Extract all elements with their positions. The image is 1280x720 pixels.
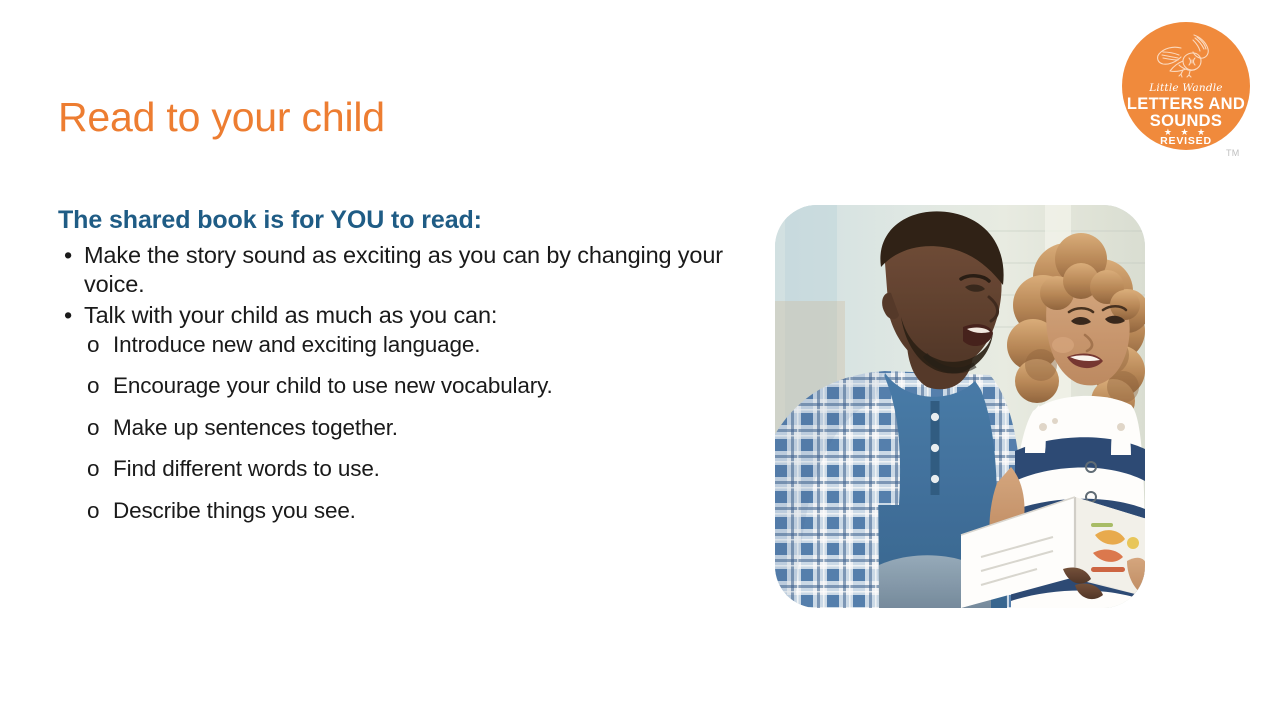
sub-bullet-list: o Introduce new and exciting language. o…	[58, 334, 748, 523]
bullet-dot-icon: •	[64, 301, 72, 330]
circle-marker-icon: o	[87, 417, 99, 440]
list-item: o Find different words to use.	[80, 458, 748, 481]
logo-revised-label: REVISED	[1122, 136, 1250, 147]
list-item-text: Make the story sound as exciting as you …	[84, 242, 723, 297]
list-item-text: Find different words to use.	[113, 456, 380, 481]
list-item: o Make up sentences together.	[80, 417, 748, 440]
logo-script-text: Little Wandle	[1122, 82, 1250, 94]
lead-heading: The shared book is for YOU to read:	[58, 206, 748, 235]
circle-marker-icon: o	[87, 334, 99, 357]
brand-logo: Little Wandle LETTERS AND SOUNDS ★ ★ ★ R…	[1122, 22, 1260, 170]
list-item: o Introduce new and exciting language.	[80, 334, 748, 357]
list-item-text: Encourage your child to use new vocabula…	[113, 373, 553, 398]
trademark-mark: TM	[1226, 148, 1240, 158]
list-item: o Encourage your child to use new vocabu…	[80, 375, 748, 398]
photo-father-and-child-reading	[775, 205, 1145, 608]
list-item: • Talk with your child as much as you ca…	[58, 301, 748, 330]
list-item-text: Talk with your child as much as you can:	[84, 302, 497, 328]
list-item: • Make the story sound as exciting as yo…	[58, 241, 748, 298]
content-body: The shared book is for YOU to read: • Ma…	[58, 206, 748, 541]
bullet-list: • Make the story sound as exciting as yo…	[58, 241, 748, 330]
page-title: Read to your child	[58, 94, 385, 141]
circle-marker-icon: o	[87, 458, 99, 481]
list-item-text: Describe things you see.	[113, 498, 356, 523]
logo-circle: Little Wandle LETTERS AND SOUNDS ★ ★ ★ R…	[1122, 22, 1250, 150]
list-item: o Describe things you see.	[80, 500, 748, 523]
circle-marker-icon: o	[87, 500, 99, 523]
photo-illustration	[775, 205, 1145, 608]
owl-icon	[1150, 31, 1222, 81]
list-item-text: Make up sentences together.	[113, 415, 398, 440]
bullet-dot-icon: •	[64, 241, 72, 270]
circle-marker-icon: o	[87, 375, 99, 398]
logo-line-letters-and: LETTERS AND	[1122, 96, 1250, 113]
slide-canvas: Read to your child	[0, 0, 1280, 720]
list-item-text: Introduce new and exciting language.	[113, 332, 480, 357]
